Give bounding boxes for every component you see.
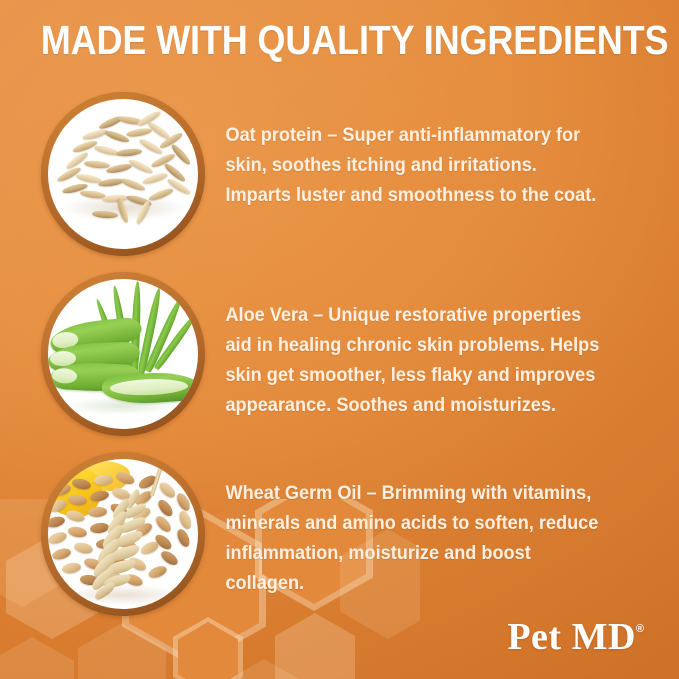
ingredients-infographic-card: MADE WITH QUALITY INGREDIENTS [0, 0, 679, 679]
registered-trademark-icon: ® [636, 623, 644, 635]
oat-grains-illustration [48, 99, 198, 249]
brand-logo: Pet MD® [507, 610, 644, 656]
aloe-vera-leaves-photo [41, 272, 205, 436]
ingredient-row-wheat-germ-oil: Wheat Germ Oil – Brimming with vitamins,… [0, 452, 679, 616]
ingredient-description: Wheat Germ Oil – Brimming with vitamins,… [205, 452, 646, 598]
brand-logo-primary: Pet [507, 616, 561, 658]
page-title: MADE WITH QUALITY INGREDIENTS [41, 18, 639, 62]
wheat-germ-photo [41, 452, 205, 616]
brand-logo-secondary: MD [572, 616, 636, 658]
aloe-vera-illustration [48, 279, 198, 429]
wheat-ear [96, 493, 154, 599]
ingredient-row-oat-protein: Oat protein – Super anti-inflammatory fo… [0, 92, 679, 256]
oat-grains-photo [41, 92, 205, 256]
wheat-germ-illustration [48, 459, 198, 609]
ingredient-description: Aloe Vera – Unique restorative propertie… [205, 272, 646, 420]
ingredient-row-aloe-vera: Aloe Vera – Unique restorative propertie… [0, 272, 679, 436]
ingredient-description: Oat protein – Super anti-inflammatory fo… [205, 92, 646, 210]
